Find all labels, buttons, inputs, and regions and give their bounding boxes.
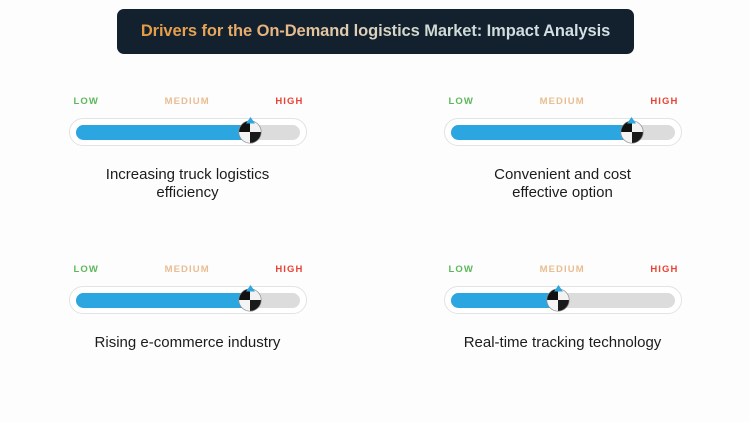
scale-label-medium: MEDIUM — [540, 264, 585, 275]
driver-caption: Rising e-commerce industry — [0, 334, 375, 352]
drivers-row-bottom: LOW MEDIUM HIGH — [0, 264, 750, 352]
driver-caption-line: Increasing truck logistics — [40, 166, 335, 184]
driver-caption: Increasing truck logistics efficiency — [0, 166, 375, 203]
driver-caption-line: effective option — [415, 184, 710, 202]
scale-label-low: LOW — [74, 96, 99, 107]
slider-handle-arrow-icon — [246, 285, 255, 295]
scale-labels: LOW MEDIUM HIGH — [69, 264, 307, 282]
drivers-grid: LOW MEDIUM HIGH — [0, 96, 750, 352]
slider-track[interactable] — [76, 293, 300, 308]
driver-caption: Real-time tracking technology — [375, 334, 750, 352]
driver-card-real-time-tracking-technology: LOW MEDIUM HIGH — [375, 264, 750, 352]
driver-caption-line: Convenient and cost — [415, 166, 710, 184]
impact-slider[interactable] — [444, 118, 682, 146]
driver-caption-line: Real-time tracking technology — [415, 334, 710, 352]
scale-label-high: HIGH — [275, 96, 303, 107]
drivers-row-top: LOW MEDIUM HIGH — [0, 96, 750, 264]
scale-labels: LOW MEDIUM HIGH — [444, 96, 682, 114]
slider-track[interactable] — [451, 293, 675, 308]
driver-caption: Convenient and cost effective option — [375, 166, 750, 203]
slider-track[interactable] — [76, 125, 300, 140]
driver-card-increasing-truck-logistics-efficiency: LOW MEDIUM HIGH — [0, 96, 375, 264]
driver-caption-line: efficiency — [40, 184, 335, 202]
scale-label-high: HIGH — [275, 264, 303, 275]
scale-label-low: LOW — [449, 96, 474, 107]
slider-fill — [76, 293, 251, 308]
scale-labels: LOW MEDIUM HIGH — [69, 96, 307, 114]
slider-handle-arrow-icon — [554, 285, 563, 295]
slider-fill — [451, 293, 559, 308]
slider-fill — [76, 125, 251, 140]
impact-slider[interactable] — [69, 118, 307, 146]
slider-fill — [451, 125, 632, 140]
slider-track[interactable] — [451, 125, 675, 140]
driver-caption-line: Rising e-commerce industry — [40, 334, 335, 352]
driver-card-convenient-and-cost-effective-option: LOW MEDIUM HIGH — [375, 96, 750, 264]
page-title: Drivers for the On-Demand logistics Mark… — [141, 22, 610, 41]
scale-label-high: HIGH — [650, 96, 678, 107]
scale-label-medium: MEDIUM — [540, 96, 585, 107]
scale-label-medium: MEDIUM — [165, 96, 210, 107]
impact-slider[interactable] — [69, 286, 307, 314]
header-banner: Drivers for the On-Demand logistics Mark… — [117, 9, 634, 54]
impact-slider[interactable] — [444, 286, 682, 314]
driver-card-rising-e-commerce-industry: LOW MEDIUM HIGH — [0, 264, 375, 352]
slider-handle-arrow-icon — [627, 117, 636, 127]
slider-handle-arrow-icon — [246, 117, 255, 127]
scale-labels: LOW MEDIUM HIGH — [444, 264, 682, 282]
scale-label-medium: MEDIUM — [165, 264, 210, 275]
scale-label-high: HIGH — [650, 264, 678, 275]
scale-label-low: LOW — [74, 264, 99, 275]
scale-label-low: LOW — [449, 264, 474, 275]
